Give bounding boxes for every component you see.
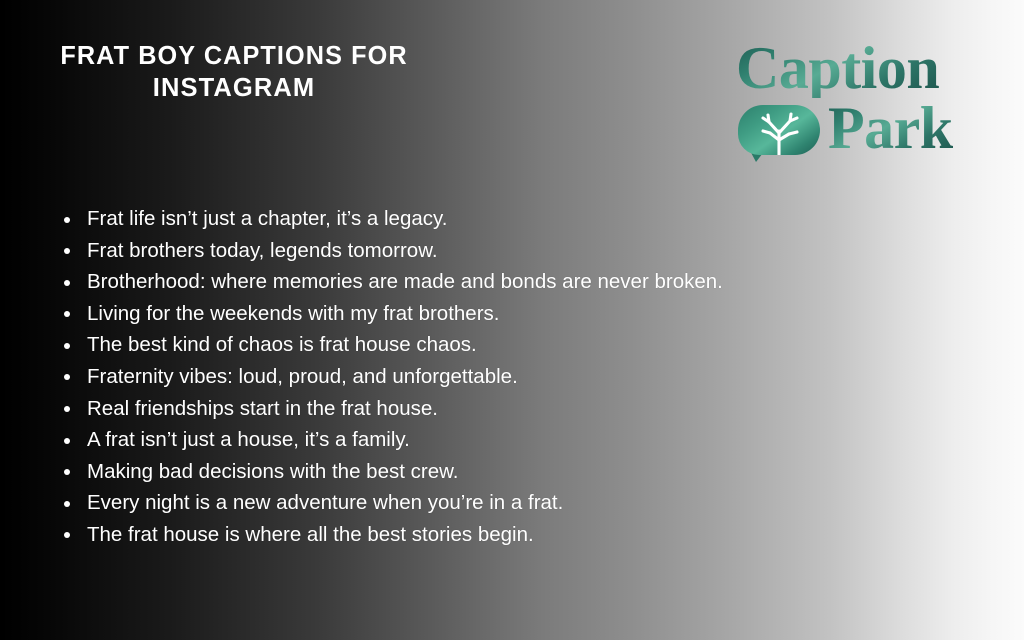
caption-text: The frat house is where all the best sto… [87,523,534,546]
title-line-1: FRAT BOY CAPTIONS FOR [28,40,440,72]
bullet-dot-icon [64,248,70,254]
caption-list-item: Making bad decisions with the best crew. [60,456,990,488]
caption-list-item: Living for the weekends with my frat bro… [60,298,990,330]
logo-word-caption: Caption [736,38,939,98]
caption-text: Brotherhood: where memories are made and… [87,270,723,293]
caption-text: Making bad decisions with the best crew. [87,460,458,483]
caption-text: Frat brothers today, legends tomorrow. [87,239,438,262]
brand-logo: Caption Park [730,36,975,166]
poster-canvas: FRAT BOY CAPTIONS FOR INSTAGRAM Caption [0,0,1024,640]
caption-list-item: Frat brothers today, legends tomorrow. [60,235,990,267]
bullet-dot-icon [64,343,70,349]
page-title: FRAT BOY CAPTIONS FOR INSTAGRAM [26,40,442,104]
caption-list-item: The best kind of chaos is frat house cha… [60,329,990,361]
logo-word-park: Park [828,98,953,158]
caption-text: Living for the weekends with my frat bro… [87,302,499,325]
bullet-dot-icon [64,501,70,507]
caption-list-item: Every night is a new adventure when you’… [60,487,990,519]
bullet-dot-icon [64,217,70,223]
bullet-dot-icon [64,438,70,444]
caption-list-item: Real friendships start in the frat house… [60,393,990,425]
caption-list-item: Fraternity vibes: loud, proud, and unfor… [60,361,990,393]
caption-text: The best kind of chaos is frat house cha… [87,333,477,356]
bullet-dot-icon [64,406,70,412]
caption-text: Frat life isn’t just a chapter, it’s a l… [87,207,447,230]
caption-list-item: The frat house is where all the best sto… [60,519,990,551]
caption-list-item: Brotherhood: where memories are made and… [60,266,990,298]
caption-text: Real friendships start in the frat house… [87,397,438,420]
caption-text: Fraternity vibes: loud, proud, and unfor… [87,365,518,388]
bullet-dot-icon [64,469,70,475]
speech-bubble-tree-icon [738,105,820,161]
caption-text: A frat isn’t just a house, it’s a family… [87,428,410,451]
bullet-dot-icon [64,280,70,286]
caption-list-item: A frat isn’t just a house, it’s a family… [60,424,990,456]
bullet-dot-icon [64,311,70,317]
caption-list-item: Frat life isn’t just a chapter, it’s a l… [60,203,990,235]
bullet-dot-icon [64,374,70,380]
caption-list: Frat life isn’t just a chapter, it’s a l… [60,203,990,551]
title-line-2: INSTAGRAM [26,72,442,104]
bullet-dot-icon [64,532,70,538]
caption-text: Every night is a new adventure when you’… [87,491,563,514]
tree-icon [752,109,806,155]
